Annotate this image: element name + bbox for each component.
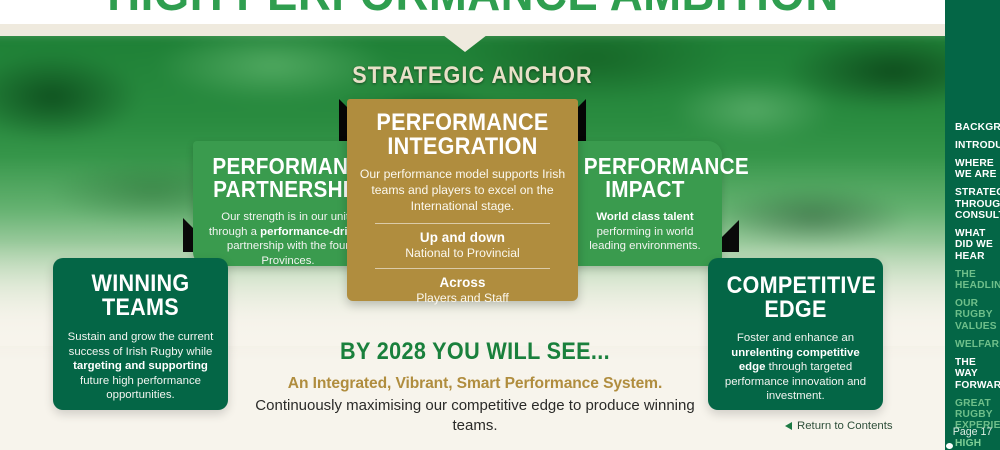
integration-title-line1: PERFORMANCE — [369, 111, 555, 135]
active-item-dot-icon — [946, 443, 953, 449]
by-2028-block: BY 2028 YOU WILL SEE... An Integrated, V… — [235, 338, 715, 435]
strategic-anchor-label: STRATEGIC ANCHOR — [47, 62, 898, 90]
impact-title: PERFORMANCE IMPACT — [584, 155, 706, 201]
sidebar-item-our-rugby-values[interactable]: OUR RUGBY VALUES — [945, 298, 1000, 332]
integration-row1-strong: Up and down — [359, 230, 566, 245]
sidebar-item-where-we-are[interactable]: WHERE WE ARE — [945, 158, 1000, 181]
impact-title-line1: PERFORMANCE — [584, 155, 706, 178]
title-notch-arrow — [443, 35, 487, 52]
integration-divider-2 — [375, 268, 550, 269]
partnership-title-line1: PERFORMANCE — [212, 155, 363, 178]
sidebar-item-background[interactable]: BACKGROUND — [945, 122, 1000, 133]
partnership-title: PERFORMANCE PARTNERSHIP — [212, 155, 363, 201]
winning-body-2: future high performance opportunities. — [80, 375, 201, 402]
page-title: HIGH PERFORMANCE AMBITION — [107, 0, 838, 22]
integration-row2-strong: Across — [359, 275, 566, 290]
winning-title-line1: WINNING — [72, 272, 210, 296]
sidebar-item-label: STRATEGY THROUGH CONSULTATION — [955, 187, 1000, 221]
impact-body-bold: World class talent — [596, 211, 693, 223]
card-performance-impact: PERFORMANCE IMPACT World class talent pe… — [568, 141, 722, 266]
sidebar-item-high-performance-ambition[interactable]: HIGH PERFORMANCE AMBITION — [945, 438, 1000, 450]
sidebar-item-what-did-we-hear[interactable]: WHAT DID WE HEAR — [945, 228, 1000, 262]
winning-body: Sustain and grow the current success of … — [64, 330, 217, 403]
edge-body-1: Foster and enhance an — [737, 332, 854, 344]
sidebar-navigation: BACKGROUNDINTRODUCTIONWHERE WE ARESTRATE… — [945, 0, 1000, 450]
sidebar-item-label: THE WAY FORWARD — [955, 357, 1000, 391]
winning-body-bold: targeting and supporting — [73, 360, 208, 372]
card-competitive-edge: COMPETITIVE EDGE Foster and enhance an u… — [708, 258, 883, 410]
winning-body-1: Sustain and grow the current success of … — [68, 331, 214, 358]
return-to-contents-label: Return to Contents — [797, 420, 893, 432]
sidebar-item-label: INTRODUCTION — [955, 140, 1000, 151]
sidebar-item-the-way-forward[interactable]: THE WAY FORWARD — [945, 357, 1000, 391]
edge-title: COMPETITIVE EDGE — [727, 274, 865, 322]
partnership-body-2: partnership with the four Provinces. — [227, 240, 349, 267]
sidebar-item-label: WHAT DID WE HEAR — [955, 228, 993, 262]
winning-title: WINNING TEAMS — [72, 272, 210, 320]
impact-body-rest: performing in world leading environments… — [589, 226, 700, 253]
edge-body: Foster and enhance an unrelenting compet… — [719, 331, 872, 404]
sidebar-item-label: OUR RUGBY VALUES — [955, 298, 997, 332]
partnership-title-line2: PARTNERSHIP — [212, 178, 363, 201]
impact-title-line2: IMPACT — [584, 178, 706, 201]
by-2028-sub-line: Continuously maximising our competitive … — [235, 396, 715, 435]
sidebar-item-label: THE HEADLINES — [955, 269, 1000, 291]
left-arrow-icon — [785, 422, 792, 430]
integration-divider-1 — [375, 223, 550, 224]
by-2028-gold-line: An Integrated, Vibrant, Smart Performanc… — [235, 375, 715, 393]
sidebar-item-strategy-through-consultation[interactable]: STRATEGY THROUGH CONSULTATION — [945, 187, 1000, 221]
impact-body: World class talent performing in world l… — [577, 210, 713, 254]
card-winning-teams: WINNING TEAMS Sustain and grow the curre… — [53, 258, 228, 410]
sidebar-item-list: BACKGROUNDINTRODUCTIONWHERE WE ARESTRATE… — [945, 122, 1000, 450]
sidebar-item-label: BACKGROUND — [955, 122, 1000, 133]
page-number: Page 17 — [945, 426, 1000, 438]
sidebar-item-label: WELFARE — [955, 339, 1000, 350]
sidebar-item-label: HIGH PERFORMANCE AMBITION — [955, 438, 1000, 450]
by-2028-heading: BY 2028 YOU WILL SEE... — [259, 338, 691, 366]
sidebar-item-the-headlines[interactable]: THE HEADLINES — [945, 269, 1000, 292]
integration-body: Our performance model supports Irish tea… — [359, 167, 566, 215]
page-root: HIGH PERFORMANCE AMBITION STRATEGIC ANCH… — [0, 0, 1000, 450]
sidebar-item-label: WHERE WE ARE — [955, 158, 997, 180]
integration-title-line2: INTEGRATION — [369, 135, 555, 159]
return-to-contents-link[interactable]: Return to Contents — [785, 420, 893, 432]
integration-row2-sub: Players and Staff — [359, 291, 566, 305]
card-performance-integration: PERFORMANCE INTEGRATION Our performance … — [347, 99, 578, 301]
winning-title-line2: TEAMS — [72, 296, 210, 320]
sidebar-item-welfare[interactable]: WELFARE — [945, 339, 1000, 350]
sidebar-item-introduction[interactable]: INTRODUCTION — [945, 140, 1000, 151]
integration-title: PERFORMANCE INTEGRATION — [369, 111, 555, 159]
integration-row1-sub: National to Provincial — [359, 246, 566, 260]
